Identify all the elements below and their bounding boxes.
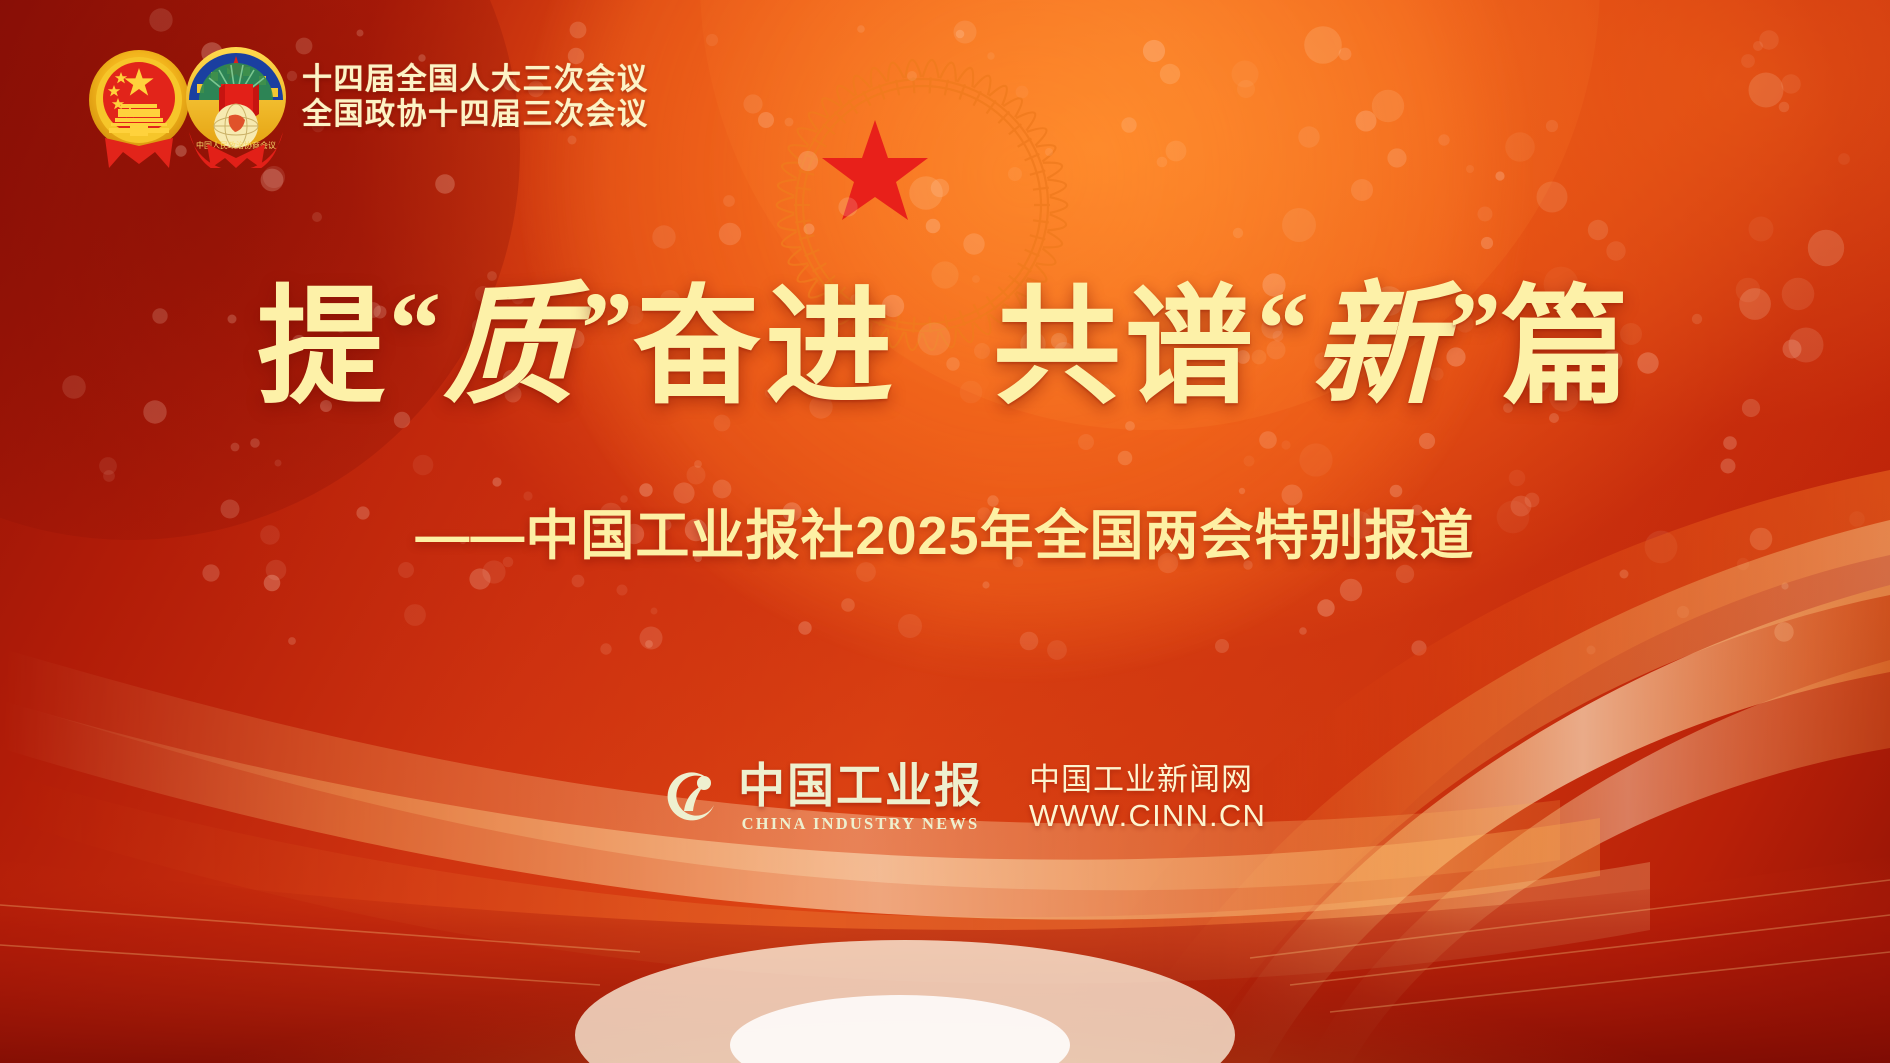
title-quote-open-1: “: [389, 271, 441, 386]
two-sessions-banner: 中国人民政治协商会议 十四届全国人大三次会议 全国政协十四届三次会议 提“质”奋…: [0, 0, 1890, 1063]
emblem-group: 中国人民政治协商会议: [85, 40, 290, 168]
brand-logo: 中国工业报 CHINA INDUSTRY NEWS: [660, 762, 983, 834]
page-subtitle: ——中国工业报社2025年全国两会特别报道: [0, 505, 1890, 567]
conference-title-block: 十四届全国人大三次会议 全国政协十四届三次会议: [302, 62, 649, 132]
cinn-swoosh-icon: [660, 767, 722, 829]
title-char-pian: 篇: [1501, 275, 1633, 421]
site-url: WWW.CINN.CN: [1029, 798, 1266, 834]
national-emblem-icon: [85, 40, 193, 168]
site-block: 中国工业新闻网 WWW.CINN.CN: [1029, 762, 1266, 834]
title-brush-zhi: 质: [441, 273, 581, 420]
title-brush-xin: 新: [1309, 273, 1449, 420]
title-quote-close-2: ”: [1449, 271, 1501, 386]
red-star-icon: [820, 118, 930, 222]
main-title-wrap: 提“质”奋进共谱“新”篇: [0, 256, 1890, 421]
title-chars-gongpu: 共谱: [993, 275, 1257, 421]
brand-words: 中国工业报 CHINA INDUSTRY NEWS: [738, 762, 983, 834]
site-name-cn: 中国工业新闻网: [1029, 762, 1266, 798]
cppcc-emblem-icon: 中国人民政治协商会议: [181, 40, 291, 168]
brand-name-en: CHINA INDUSTRY NEWS: [738, 814, 983, 834]
title-char-ti: 提: [257, 275, 389, 421]
title-quote-close-1: ”: [581, 271, 633, 386]
page-title: 提“质”奋进共谱“新”篇: [257, 256, 1633, 421]
brand-name-cn: 中国工业报: [738, 762, 983, 812]
title-quote-open-2: “: [1257, 271, 1309, 386]
conference-line-2: 全国政协十四届三次会议: [302, 97, 649, 132]
title-chars-fenjin: 奋进: [633, 275, 897, 421]
footer-logo-row: 中国工业报 CHINA INDUSTRY NEWS 中国工业新闻网 WWW.CI…: [660, 762, 1266, 834]
conference-line-1: 十四届全国人大三次会议: [302, 62, 649, 97]
